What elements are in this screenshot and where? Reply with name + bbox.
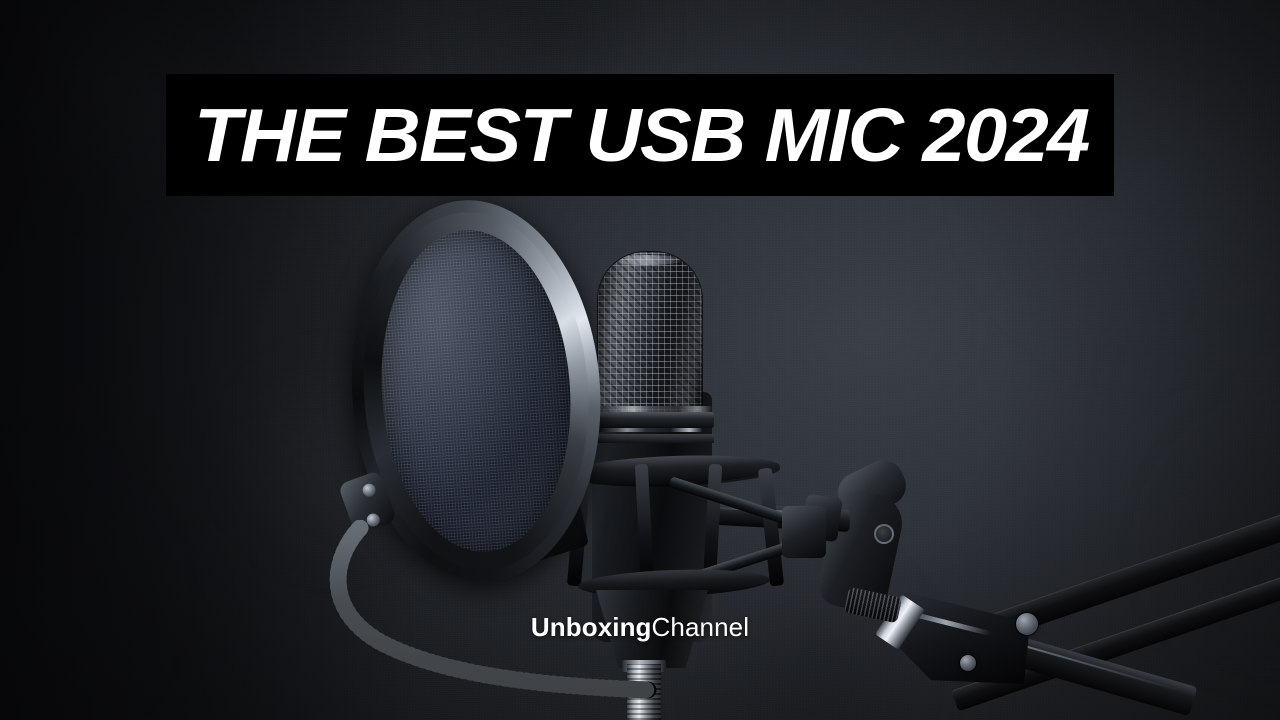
title-banner: THE BEST USB MIC 2024: [166, 74, 1114, 196]
page-title: THE BEST USB MIC 2024: [194, 98, 1089, 173]
grille-shading: [598, 252, 702, 422]
channel-watermark: UnboxingChannel: [0, 612, 1280, 643]
pop-filter-mesh: [371, 224, 581, 558]
clamp-bolt-small: [960, 655, 976, 671]
pop-filter-mesh-sheen: [371, 224, 581, 558]
shock-mount-strut: [758, 468, 784, 587]
microphone-grille: [598, 252, 702, 422]
knob-center-dot-icon: [874, 524, 894, 544]
watermark-light-text: Channel: [652, 612, 750, 642]
shock-mount-hub: [782, 506, 826, 558]
watermark-bold-text: Unboxing: [531, 612, 652, 642]
thumbnail-canvas: THE BEST USB MIC 2024 UnboxingChannel: [0, 0, 1280, 720]
microphone-thread-mount: [627, 664, 661, 720]
pop-filter: [339, 192, 613, 590]
grille-top-highlight: [610, 255, 684, 265]
